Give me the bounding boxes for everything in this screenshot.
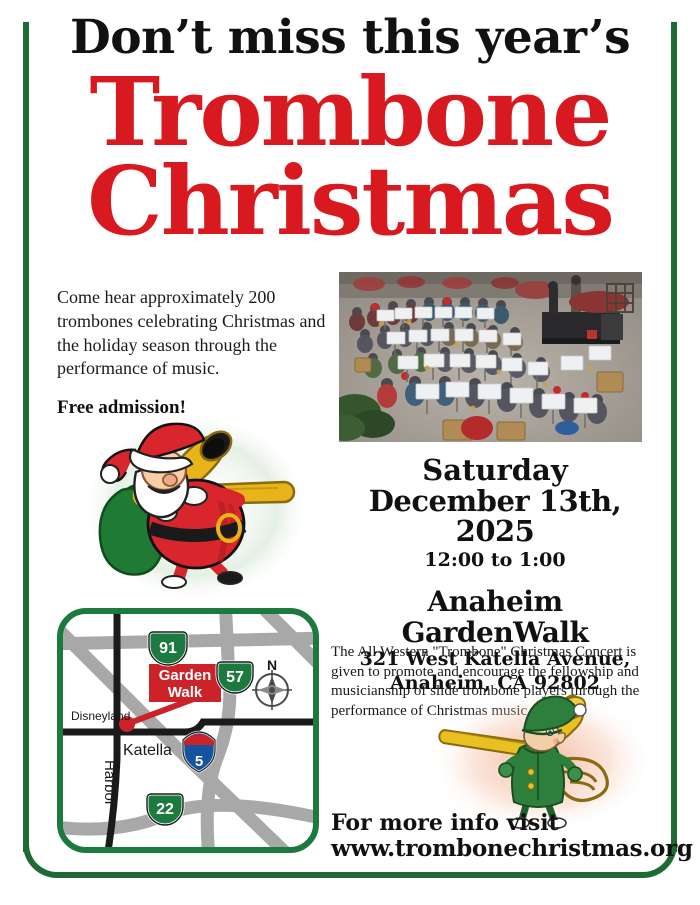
poster-kicker: Don’t miss this year’s <box>0 14 700 62</box>
footer-call-to-action: For more info visit <box>331 811 693 836</box>
route-shield-22-number: 22 <box>156 801 174 818</box>
route-shield-i5-number: 5 <box>195 753 203 770</box>
map-destination-line1: Garden <box>159 667 212 684</box>
santa-playing-trombone-illustration <box>88 412 304 598</box>
route-shield-57: 57 <box>217 662 253 693</box>
route-shield-22: 22 <box>147 794 183 825</box>
headline-group: Don’t miss this year’s Trombone Christma… <box>0 14 700 247</box>
footer-group: For more info visit www.trombonechristma… <box>331 811 693 861</box>
route-shield-91: 91 <box>149 632 187 665</box>
intro-paragraph: Come hear approximately 200 trombones ce… <box>57 286 327 381</box>
santa-icon <box>88 412 304 598</box>
poster-root: Don’t miss this year’s Trombone Christma… <box>0 0 700 905</box>
map-destination-line2: Walk <box>168 684 203 701</box>
ensemble-photo-art <box>339 272 642 442</box>
page-title: Trombone Christmas <box>0 68 700 247</box>
ensemble-photo <box>339 272 642 442</box>
location-map-art[interactable]: Garden Walk Disneyland Katella Harbor 91… <box>57 608 319 853</box>
event-time: 12:00 to 1:00 <box>330 548 660 573</box>
title-line-christmas: Christmas <box>0 157 700 246</box>
map-destination-label: Garden Walk <box>149 664 221 702</box>
footer-website[interactable]: www.trombonechristmas.org <box>331 836 693 862</box>
route-shield-91-number: 91 <box>159 640 177 657</box>
event-day: Saturday <box>330 455 660 486</box>
map-label-katella: Katella <box>123 742 172 759</box>
location-map[interactable]: Garden Walk Disneyland Katella Harbor 91… <box>57 608 319 853</box>
map-label-disneyland: Disneyland <box>71 709 130 723</box>
event-venue: Anaheim GardenWalk <box>330 587 660 649</box>
event-date: December 13th, 2025 <box>330 486 660 547</box>
route-shield-57-number: 57 <box>226 669 244 686</box>
map-label-harbor: Harbor <box>101 760 118 806</box>
